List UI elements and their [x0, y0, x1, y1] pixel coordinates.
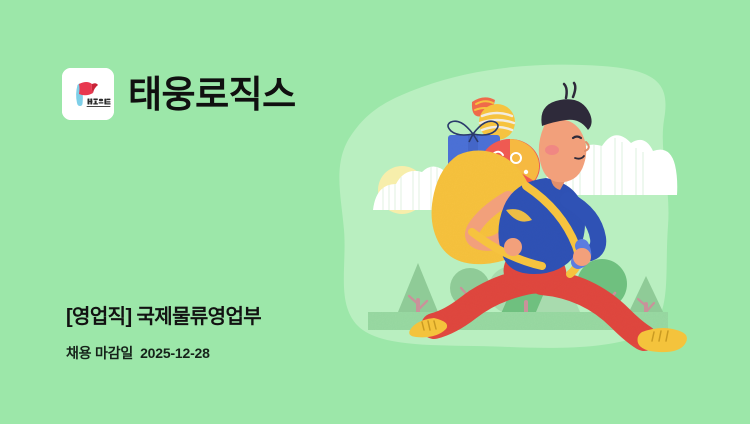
job-posting-banner: 태웅로직스 [영업직] 국제물류영업부 채용 마감일2025-12-28 [0, 0, 750, 424]
job-deadline: 채용 마감일2025-12-28 [66, 343, 261, 363]
courier-shoe-front [638, 328, 687, 352]
job-title: [영업직] 국제물류영업부 [66, 305, 261, 329]
job-deadline-date: 2025-12-28 [140, 345, 210, 361]
courier-back-hand [504, 238, 522, 256]
taewoong-logistics-logo-icon [62, 68, 114, 120]
running-delivery-courier-illustration [330, 50, 750, 390]
company-name: 태웅로직스 [128, 76, 296, 113]
brand-row: 태웅로직스 [62, 68, 296, 120]
job-info-block: [영업직] 국제물류영업부 채용 마감일2025-12-28 [66, 305, 261, 363]
job-deadline-label: 채용 마감일 [66, 345, 133, 361]
